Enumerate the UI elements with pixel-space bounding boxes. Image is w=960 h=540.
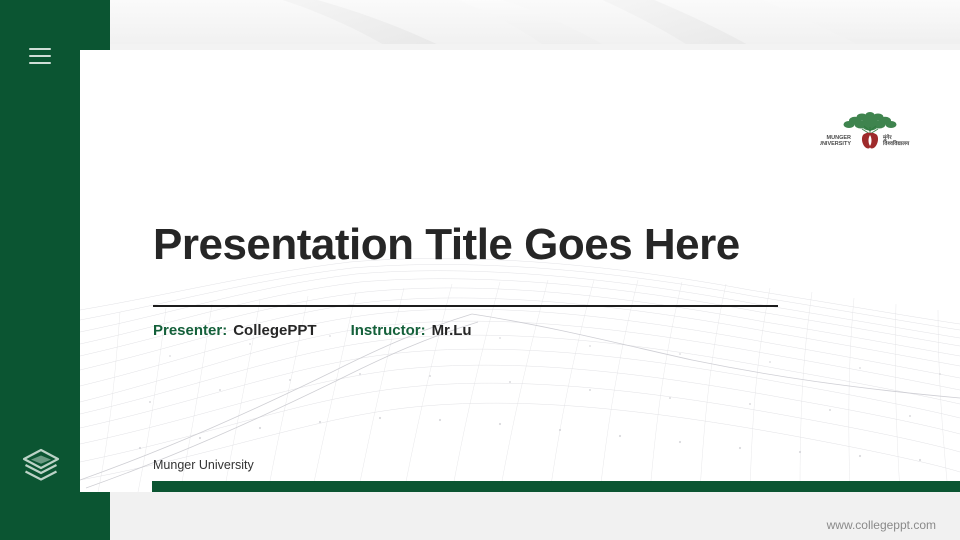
- organization-name: Munger University: [153, 458, 254, 472]
- hamburger-menu-button[interactable]: [20, 36, 60, 76]
- layers-stack-icon: [19, 443, 63, 487]
- app-root: MUNGER UNIVERSITY मुंगेर विश्वविद्यालय P…: [0, 0, 960, 540]
- watermark-url: www.collegeppt.com: [827, 518, 936, 532]
- presenter-value: CollegePPT: [233, 322, 316, 339]
- slide-canvas: MUNGER UNIVERSITY मुंगेर विश्वविद्यालय P…: [80, 50, 960, 492]
- logo-line1: MUNGER: [827, 135, 851, 141]
- logo-line2: UNIVERSITY: [820, 141, 851, 147]
- slide-bottom-bar: [152, 481, 960, 492]
- wireframe-terrain-graphic: [80, 252, 960, 492]
- logo-hindi-line1: मुंगेर: [882, 133, 892, 141]
- slide-meta: Presenter: CollegePPT Instructor: Mr.Lu: [153, 322, 472, 339]
- layers-button[interactable]: [19, 443, 63, 487]
- presenter-pair: Presenter: CollegePPT: [153, 322, 317, 339]
- instructor-value: Mr.Lu: [432, 322, 472, 339]
- munger-university-logo: MUNGER UNIVERSITY मुंगेर विश्वविद्यालय: [820, 102, 920, 158]
- presenter-label: Presenter:: [153, 322, 227, 339]
- instructor-label: Instructor:: [351, 322, 426, 339]
- title-divider-rule: [153, 305, 778, 307]
- top-decoration-band: [110, 0, 960, 52]
- instructor-pair: Instructor: Mr.Lu: [351, 322, 472, 339]
- slide-title: Presentation Title Goes Here: [153, 220, 740, 270]
- hamburger-menu-icon: [29, 48, 51, 64]
